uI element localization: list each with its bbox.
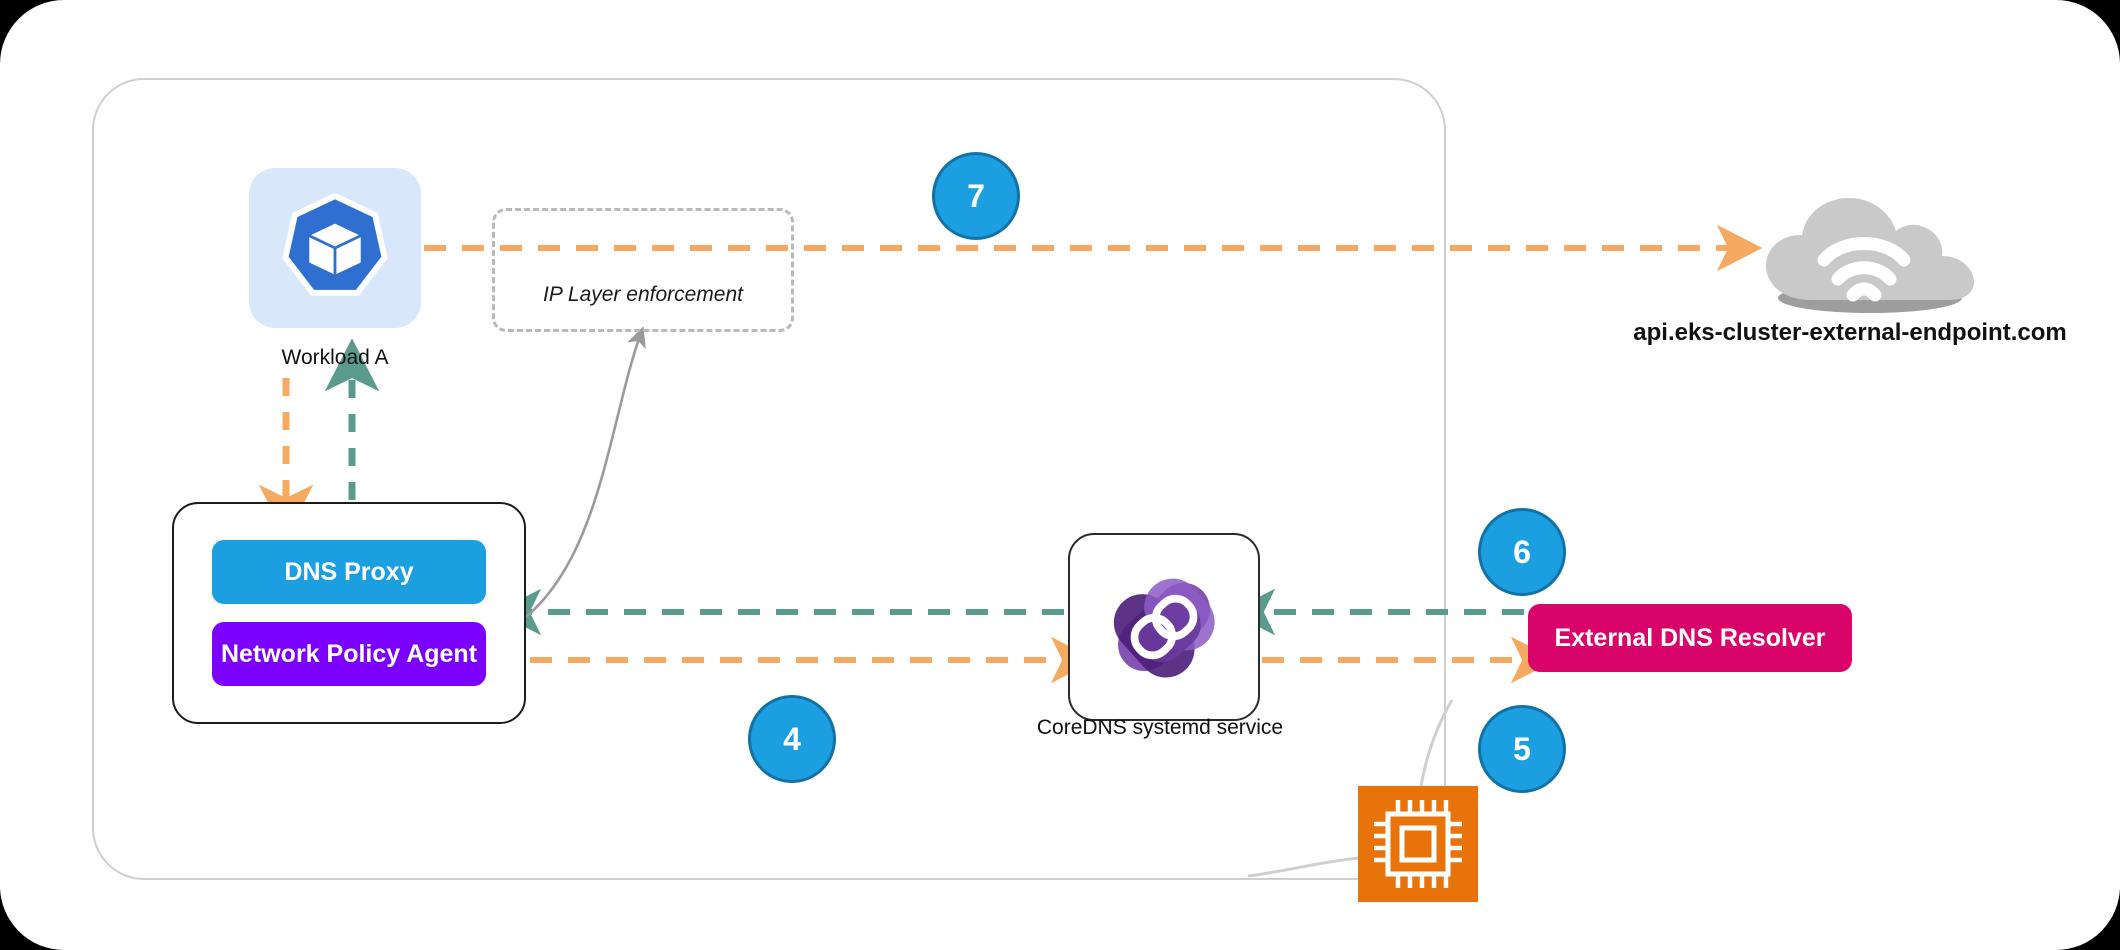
network-policy-agent-block[interactable]: Network Policy Agent (212, 622, 486, 686)
external-dns-resolver-block[interactable]: External DNS Resolver (1528, 604, 1852, 672)
workload-a-label: Workload A (190, 345, 480, 371)
coredns-tile[interactable] (1068, 533, 1260, 721)
step-badge-6[interactable]: 6 (1478, 508, 1566, 596)
workload-a-tile[interactable] (249, 168, 421, 328)
cloud-icon (1754, 190, 1986, 320)
step-badge-4[interactable]: 4 (748, 695, 836, 783)
diagram-canvas: Workload A IP Layer enforcement DNS Prox… (0, 0, 2120, 950)
kubernetes-icon (276, 189, 394, 307)
ip-layer-enforcement-box: IP Layer enforcement (492, 208, 794, 332)
dns-proxy-block[interactable]: DNS Proxy (212, 540, 486, 604)
cpu-chip-icon (1358, 786, 1478, 902)
coredns-icon (1098, 561, 1230, 693)
step-badge-5[interactable]: 5 (1478, 705, 1566, 793)
external-endpoint-cloud[interactable] (1754, 190, 1986, 320)
ip-layer-enforcement-label: IP Layer enforcement (543, 283, 743, 329)
external-endpoint-label: api.eks-cluster-external-endpoint.com (1580, 320, 2120, 346)
coredns-label: CoreDNS systemd service (950, 715, 1370, 741)
node-agent-container: DNS Proxy Network Policy Agent (172, 502, 526, 724)
cpu-chip-badge[interactable] (1358, 786, 1478, 902)
step-badge-7[interactable]: 7 (932, 152, 1020, 240)
